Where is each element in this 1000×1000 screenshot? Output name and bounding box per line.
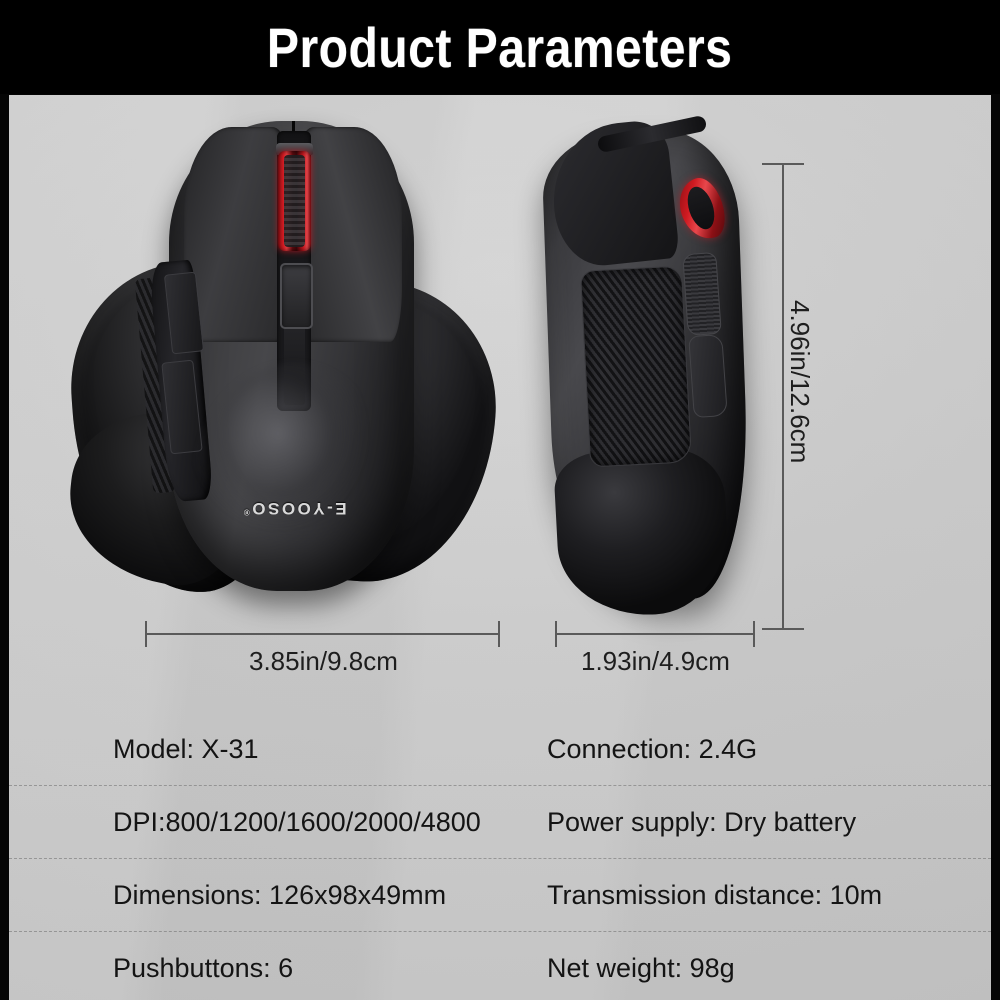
spec-net-weight: Net weight: 98g	[479, 953, 991, 984]
spec-dimensions: Dimensions: 126x98x49mm	[9, 880, 479, 911]
dimension-cap-width-side-right	[753, 621, 755, 647]
mouse-side-view-image	[539, 120, 769, 620]
table-row: DPI:800/1200/1600/2000/4800 Power supply…	[9, 786, 991, 859]
dimension-cap-length-bottom	[762, 628, 804, 630]
spec-power-supply: Power supply: Dry battery	[479, 807, 991, 838]
dimension-cap-width-top-right	[498, 621, 500, 647]
mouse-palm-highlight	[194, 363, 394, 598]
dimension-label-width-side: 1.93in/4.9cm	[581, 646, 730, 677]
mouse-top-view-image: E-YOOSO®	[74, 113, 494, 623]
table-row: Model: X-31 Connection: 2.4G	[9, 712, 991, 786]
page-title: Product Parameters	[267, 15, 732, 80]
dimension-line-width-side	[555, 633, 755, 635]
dimension-line-width-top	[145, 633, 500, 635]
header-banner: Product Parameters	[0, 0, 1000, 94]
dimension-label-width-top: 3.85in/9.8cm	[249, 646, 398, 677]
mouse-side-thumb-button-lower	[688, 334, 728, 418]
table-row: Pushbuttons: 6 Net weight: 98g	[9, 932, 991, 1000]
dimension-label-length: 4.96in/12.6cm	[784, 300, 815, 463]
dimension-cap-width-top-left	[145, 621, 147, 647]
spec-transmission-distance: Transmission distance: 10m	[479, 880, 991, 911]
mouse-dpi-button	[280, 263, 313, 329]
mouse-scroll-wheel-red	[278, 151, 311, 251]
table-row: Dimensions: 126x98x49mm Transmission dis…	[9, 859, 991, 932]
mouse-side-thumb-button-upper	[682, 252, 722, 336]
specifications-table: Model: X-31 Connection: 2.4G DPI:800/120…	[9, 712, 991, 1000]
spec-pushbuttons: Pushbuttons: 6	[9, 953, 479, 984]
product-canvas: E-YOOSO® 4.96in/12.6cm 3.85in/9.8cm	[9, 95, 991, 1000]
dimension-cap-length-top	[762, 163, 804, 165]
spec-model: Model: X-31	[9, 734, 479, 765]
mouse-right-click-button	[302, 127, 402, 342]
mouse-wheel-texture	[284, 155, 305, 247]
dimension-cap-width-side-left	[555, 621, 557, 647]
spec-connection: Connection: 2.4G	[479, 734, 991, 765]
spec-dpi: DPI:800/1200/1600/2000/4800	[9, 807, 479, 838]
product-parameters-page: Product Parameters E-YOOSO®	[0, 0, 1000, 1000]
mouse-side-grip-panel	[580, 265, 692, 467]
